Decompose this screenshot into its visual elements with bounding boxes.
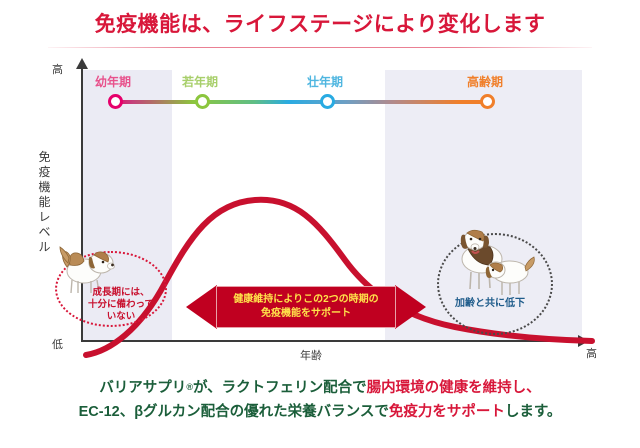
stage-dot-senior[interactable] xyxy=(480,94,495,109)
adult-dogs-illustration-icon xyxy=(448,227,540,299)
caption-line-2: EC-12、βグルカン配合の優れた栄養バランスで免疫力をサポートします。 xyxy=(0,400,640,424)
caption-line-1-highlight: 腸内環境の健康を維持し、 xyxy=(367,380,541,396)
y-axis-high-label: 高 xyxy=(52,61,63,77)
growth-phase-annotation-text: 成長期には、 十分に備わって いない xyxy=(88,287,154,322)
stage-dot-prime[interactable] xyxy=(320,94,335,109)
caption-product-name: バリアサプリ xyxy=(99,380,186,396)
y-axis-title: 免疫機能レベル xyxy=(36,150,54,255)
aging-decline-annotation-text: 加齢と共に低下 xyxy=(455,298,525,309)
registered-trademark-icon: ® xyxy=(186,382,193,392)
banner-body: 健康維持によりこの2つの時期の 免疫機能をサポート xyxy=(216,286,396,328)
x-axis-title: 年齢 xyxy=(300,347,322,363)
stage-label-senior: 高齢期 xyxy=(467,73,503,90)
page-title: 免疫機能は、ライフステージにより変化します xyxy=(0,12,640,38)
banner-arrow-right-icon xyxy=(395,285,426,329)
title-divider xyxy=(48,47,592,48)
stage-dot-puppy[interactable] xyxy=(108,94,123,109)
immune-function-chart: 高 低 免疫機能レベル 年齢 高 幼年期 若年期 壮年期 高齢期 xyxy=(0,55,640,365)
life-stage-timeline xyxy=(110,100,490,104)
support-banner: 健康維持によりこの2つの時期の 免疫機能をサポート xyxy=(186,284,426,330)
aging-decline-annotation: 加齢と共に低下 xyxy=(455,298,525,310)
caption-line-2-highlight: 免疫力をサポート xyxy=(389,404,505,420)
y-axis-low-label: 低 xyxy=(52,336,63,352)
x-axis-high-label: 高 xyxy=(586,345,597,361)
title-bar: 免疫機能は、ライフステージにより変化します xyxy=(0,0,640,52)
caption-line-1-mid: が、ラクトフェリン配合で xyxy=(193,380,367,396)
banner-arrow-left-icon xyxy=(186,285,217,329)
stage-label-prime: 壮年期 xyxy=(307,73,343,90)
stage-label-puppy: 幼年期 xyxy=(95,73,131,90)
y-axis-arrow-icon xyxy=(76,58,88,69)
stage-dot-young[interactable] xyxy=(195,94,210,109)
support-banner-text: 健康維持によりこの2つの時期の 免疫機能をサポート xyxy=(233,293,378,321)
stage-label-young: 若年期 xyxy=(182,73,218,90)
x-axis-line xyxy=(81,340,581,342)
growth-phase-annotation: 成長期には、 十分に備わって いない xyxy=(88,287,154,323)
product-caption: バリアサプリ®が、ラクトフェリン配合で腸内環境の健康を維持し、 EC-12、βグ… xyxy=(0,375,640,424)
caption-line-2-end: します。 xyxy=(505,404,562,420)
caption-line-2-start: EC-12、βグルカン配合の優れた栄養バランスで xyxy=(79,404,389,420)
caption-line-1: バリアサプリ®が、ラクトフェリン配合で腸内環境の健康を維持し、 xyxy=(0,375,640,400)
